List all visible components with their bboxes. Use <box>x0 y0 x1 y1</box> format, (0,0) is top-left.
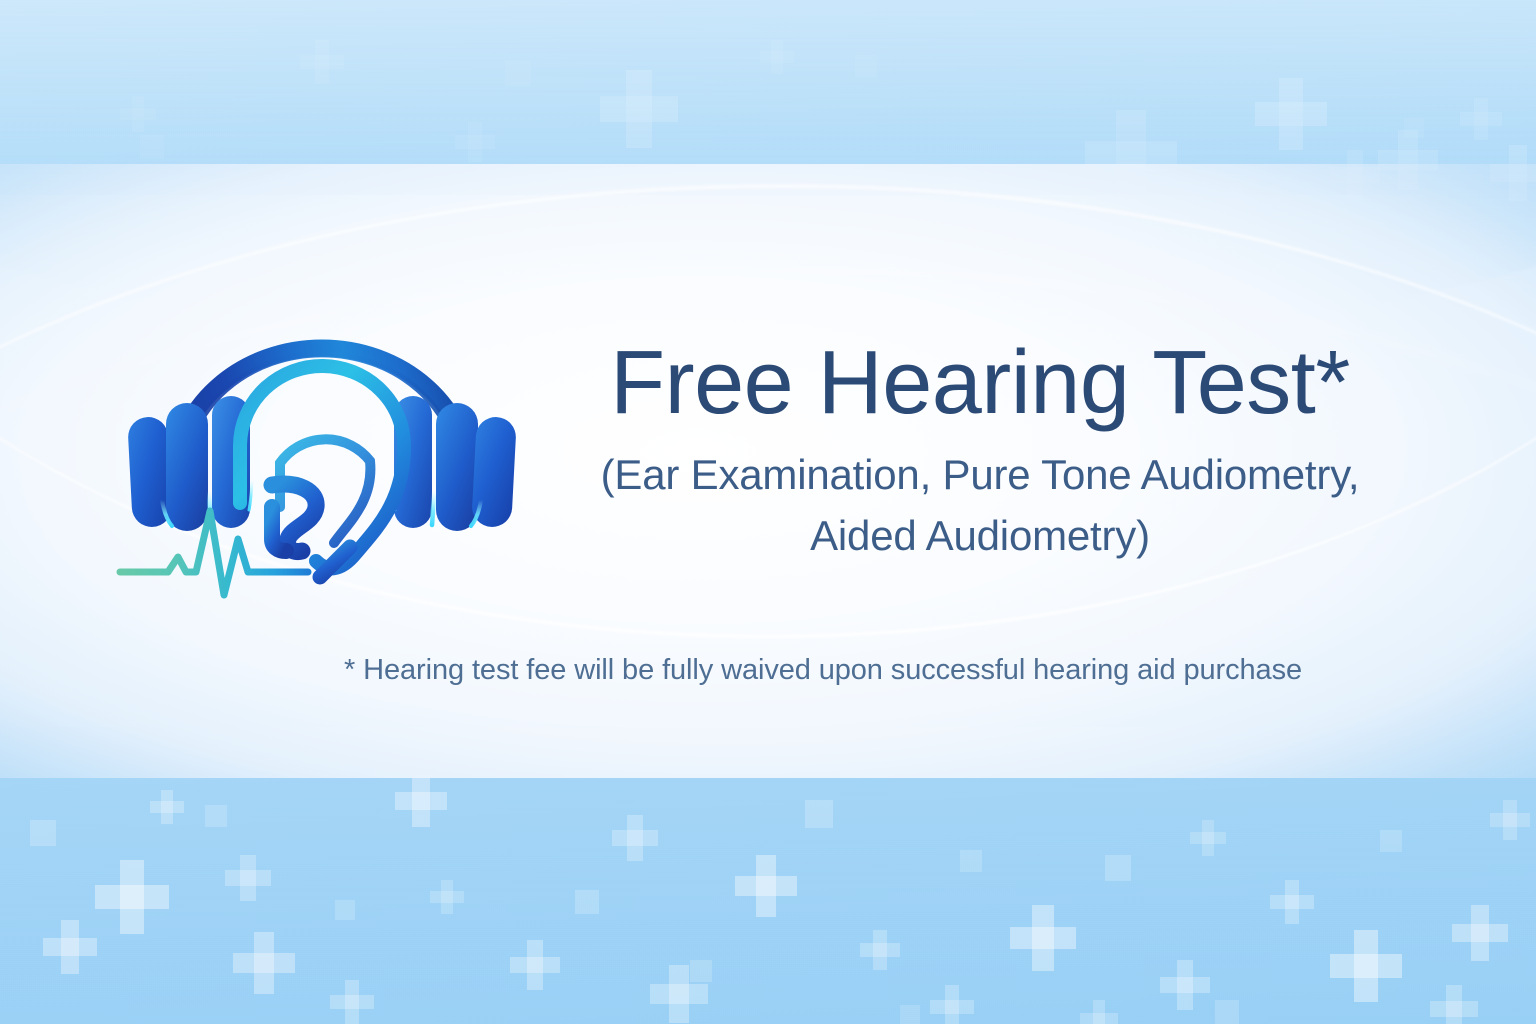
ear-lobe <box>272 507 286 551</box>
earcup-right <box>392 396 517 531</box>
footnote-disclaimer: * Hearing test fee will be fully waived … <box>0 652 1536 690</box>
headline-block: Free Hearing Test* (Ear Examination, Pur… <box>520 336 1440 567</box>
hearing-logo <box>112 295 532 605</box>
page-title: Free Hearing Test* <box>520 336 1440 431</box>
banner-content: Free Hearing Test* (Ear Examination, Pur… <box>0 0 1536 1024</box>
free-hearing-test-banner: Free Hearing Test* (Ear Examination, Pur… <box>0 0 1536 1024</box>
subtitle: (Ear Examination, Pure Tone Audiometry, … <box>520 445 1440 567</box>
subtitle-line-1: (Ear Examination, Pure Tone Audiometry, <box>601 451 1360 498</box>
subtitle-line-2: Aided Audiometry) <box>520 506 1440 567</box>
